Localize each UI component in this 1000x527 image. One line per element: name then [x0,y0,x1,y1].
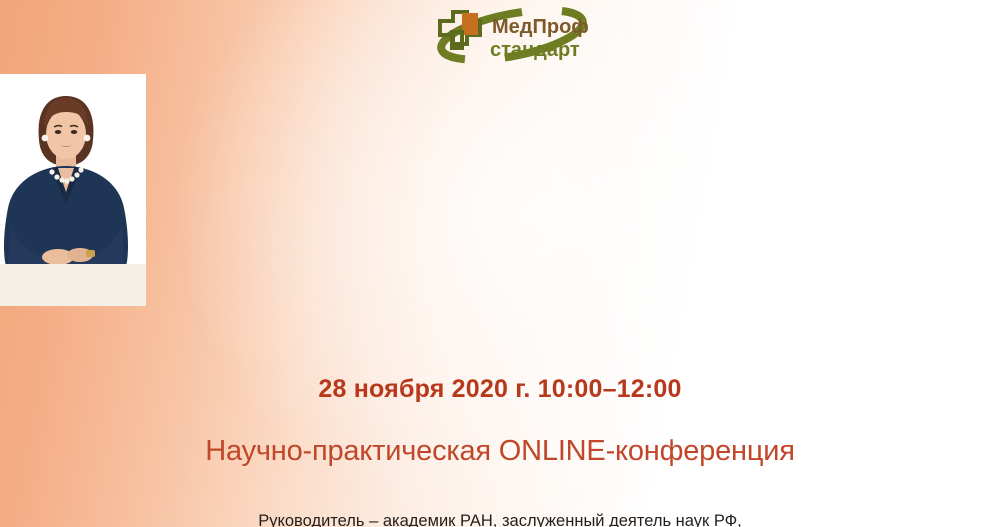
portrait-adamyan [0,74,146,306]
chair-line-1: Руководитель – академик РАН, заслуженный… [0,510,1000,527]
medprof-standart-logo[interactable]: МедПроф стандарт [432,4,592,66]
conference-poster: МедПроф стандарт [0,0,1000,527]
event-type: Научно-практическая ONLINE-конференция [0,435,1000,468]
event-date: 28 ноября 2020 г. 10:00–12:00 [0,375,1000,404]
logo-word-bottom: стандарт [490,39,580,61]
logo-word-top: МедПроф [492,16,589,38]
chair-block: Руководитель – академик РАН, заслуженный… [0,510,1000,527]
